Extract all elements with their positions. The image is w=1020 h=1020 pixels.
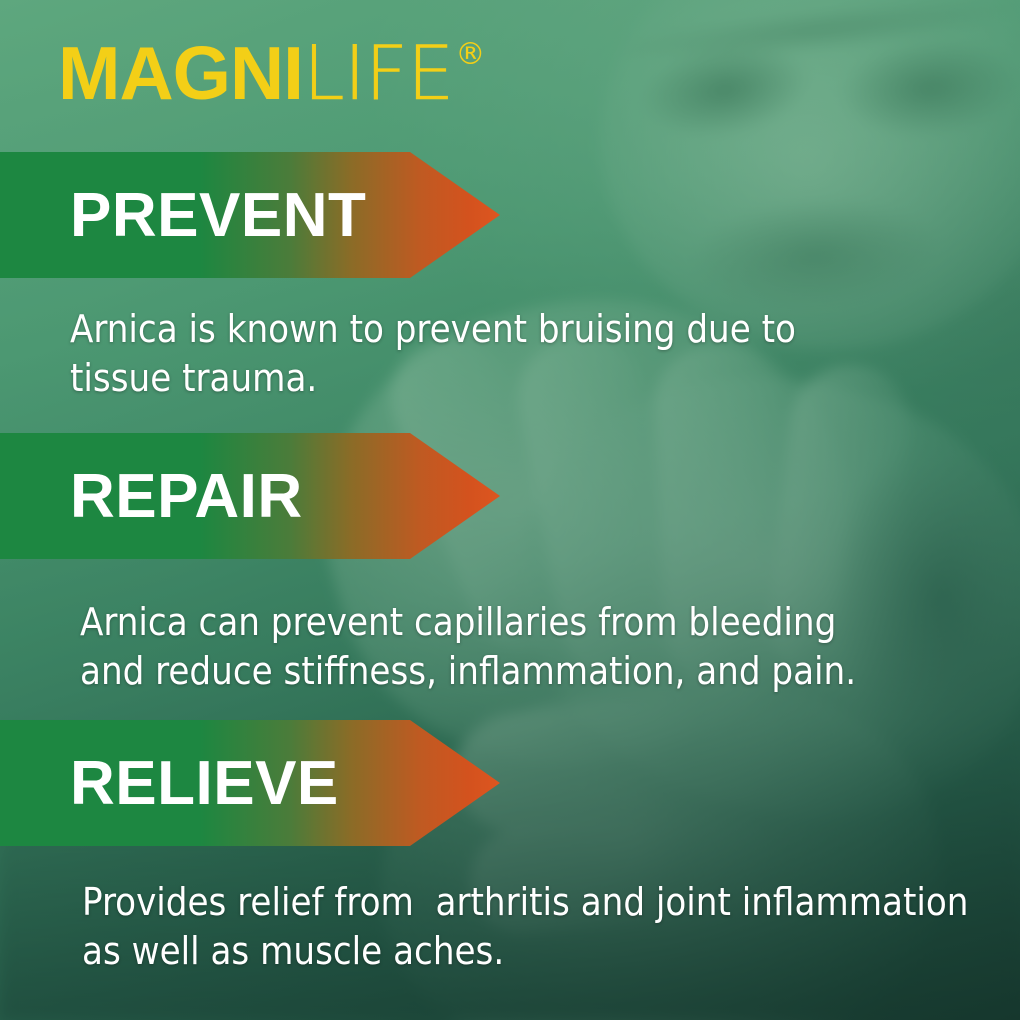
logo-text-life: LIFE bbox=[303, 36, 453, 111]
registered-trademark-icon: ® bbox=[455, 40, 485, 70]
section-body-relieve: Provides relief from arthritis and joint… bbox=[82, 878, 1020, 975]
magnilife-logo: MAGNI LIFE ® bbox=[58, 36, 485, 111]
section-banner-repair: REPAIR bbox=[0, 433, 500, 559]
section-body-prevent: Arnica is known to prevent bruising due … bbox=[70, 305, 950, 402]
banner-label-relieve: RELIEVE bbox=[70, 748, 339, 819]
section-banner-relieve: RELIEVE bbox=[0, 720, 500, 846]
logo-text-magni: MAGNI bbox=[58, 36, 303, 111]
banner-label-prevent: PREVENT bbox=[70, 180, 366, 251]
section-body-repair: Arnica can prevent capillaries from blee… bbox=[80, 598, 980, 695]
banner-label-repair: REPAIR bbox=[70, 461, 303, 532]
section-banner-prevent: PREVENT bbox=[0, 152, 500, 278]
product-infographic: MAGNI LIFE ® PREVENT Arnica is known to … bbox=[0, 0, 1020, 1020]
